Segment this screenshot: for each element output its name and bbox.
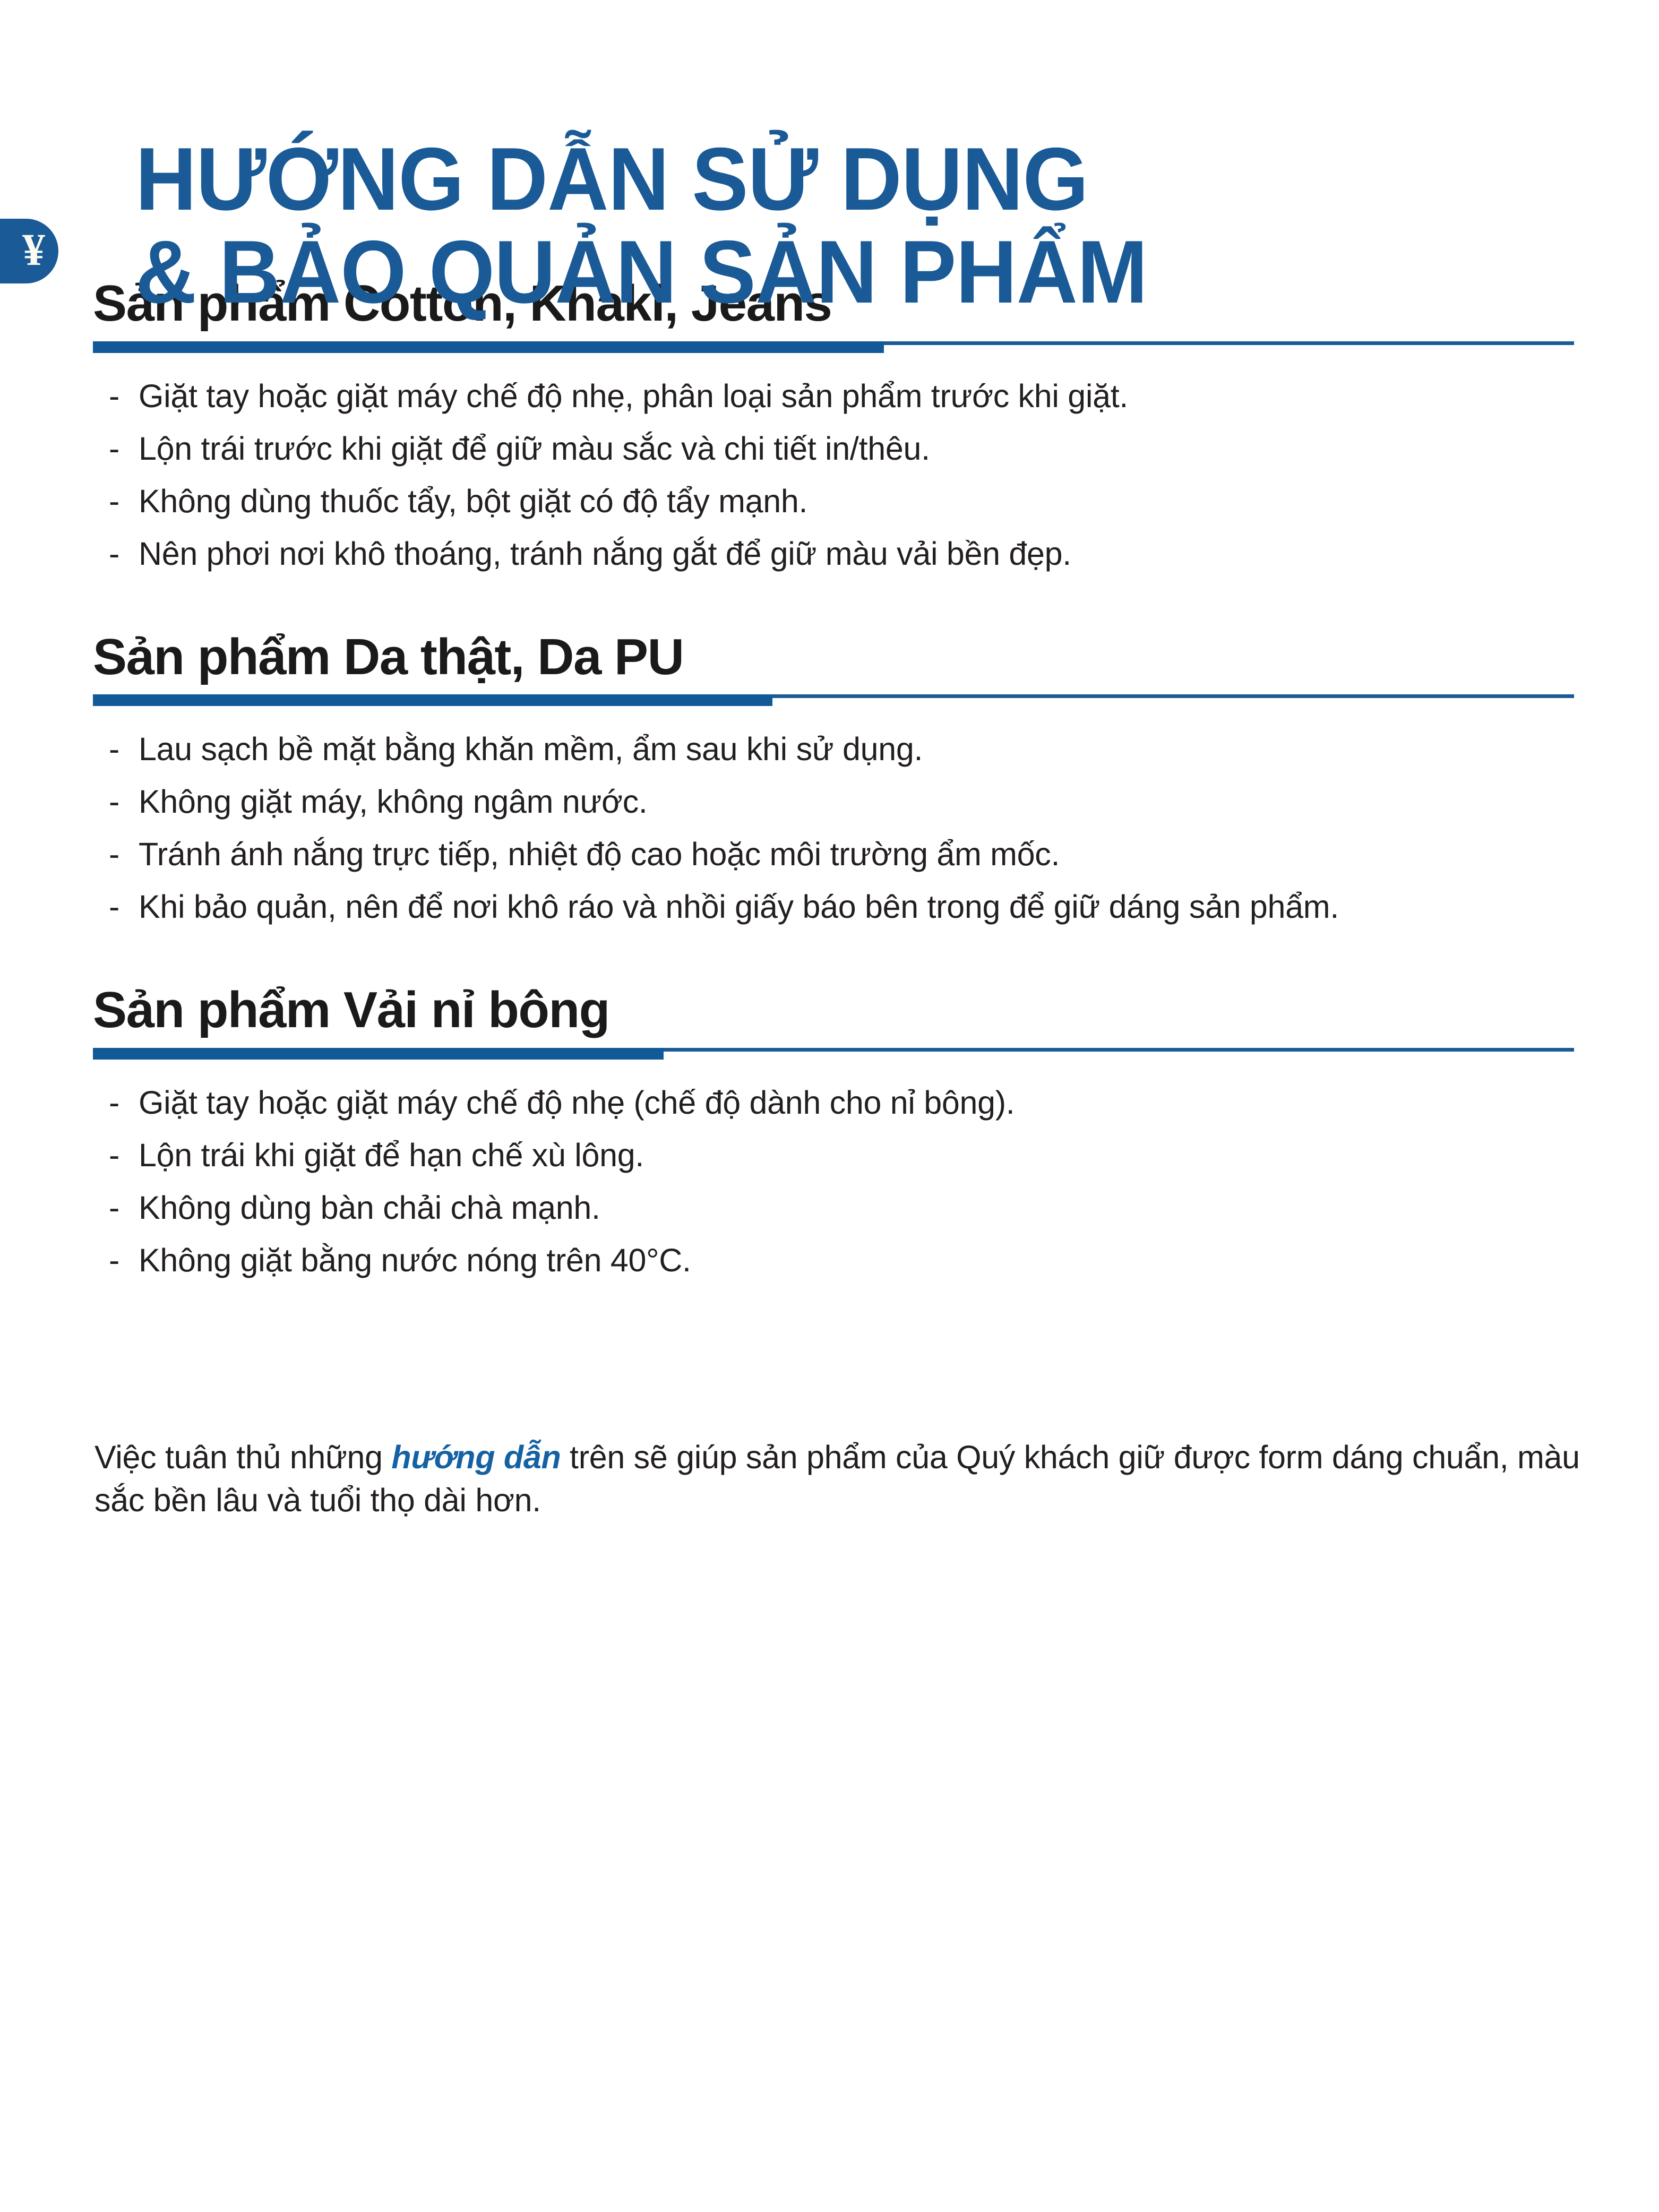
list-item-text: Khi bảo quản, nên để nơi khô ráo và nhồi… xyxy=(139,891,1590,923)
section-spacer xyxy=(93,590,1590,630)
list-item: - Giặt tay hoặc giặt máy chế độ nhẹ (chế… xyxy=(109,1087,1590,1119)
list-item: - Nên phơi nơi khô thoáng, tránh nắng gắ… xyxy=(109,538,1590,570)
section-spacer xyxy=(93,943,1590,983)
closing-note: Việc tuân thủ những hướng dẫn trên sẽ gi… xyxy=(0,1436,1659,1521)
list-item: - Khi bảo quản, nên để nơi khô ráo và nh… xyxy=(109,891,1590,923)
closing-note-part-1: Việc tuân thủ những xyxy=(94,1439,391,1475)
section-fleece-fabric: Sản phẩm Vải nỉ bông - Giặt tay hoặc giặ… xyxy=(93,983,1590,1277)
list-item-text: Lau sạch bề mặt bằng khăn mềm, ẩm sau kh… xyxy=(139,733,1590,765)
bullet-marker: - xyxy=(109,891,139,923)
bullet-marker: - xyxy=(109,538,139,570)
list-item: - Không dùng bàn chải chà mạnh. xyxy=(109,1192,1590,1224)
page-title-line-2: & BẢO QUẢN SẢN PHẨM xyxy=(135,226,1583,319)
list-item-text: Không giặt máy, không ngâm nước. xyxy=(139,786,1590,818)
list-item-text: Tránh ánh nắng trực tiếp, nhiệt độ cao h… xyxy=(139,838,1590,871)
bullet-marker: - xyxy=(109,1087,139,1119)
section-underline xyxy=(93,340,1590,351)
care-instructions-content: Sản phẩm Cotton, Khaki, Jeans - Giặt tay… xyxy=(0,276,1659,1277)
bullet-list: - Giặt tay hoặc giặt máy chế độ nhẹ (chế… xyxy=(93,1087,1590,1277)
section-leather-pu: Sản phẩm Da thật, Da PU - Lau sạch bề mặ… xyxy=(93,630,1590,983)
bullet-marker: - xyxy=(109,838,139,871)
list-item: - Lau sạch bề mặt bằng khăn mềm, ẩm sau … xyxy=(109,733,1590,765)
bullet-list: - Lau sạch bề mặt bằng khăn mềm, ẩm sau … xyxy=(93,733,1590,923)
bullet-marker: - xyxy=(109,380,139,412)
bullet-marker: - xyxy=(109,786,139,818)
list-item-text: Giặt tay hoặc giặt máy chế độ nhẹ, phân … xyxy=(139,380,1590,412)
list-item-text: Giặt tay hoặc giặt máy chế độ nhẹ (chế đ… xyxy=(139,1087,1590,1119)
list-item-text: Lộn trái trước khi giặt để giữ màu sắc v… xyxy=(139,433,1590,465)
closing-note-highlight: hướng dẫn xyxy=(391,1439,561,1475)
section-heading: Sản phẩm Da thật, Da PU xyxy=(93,630,1590,685)
yen-y-logo-icon: ¥ xyxy=(22,227,45,272)
page-title-line-1: HƯỚNG DẪN SỬ DỤNG xyxy=(135,133,1583,226)
section-cotton-khaki-jeans: Sản phẩm Cotton, Khaki, Jeans - Giặt tay… xyxy=(93,276,1590,630)
list-item-text: Không giặt bằng nước nóng trên 40°C. xyxy=(139,1244,1590,1277)
underline-thick-bar xyxy=(93,694,772,706)
list-item: - Tránh ánh nắng trực tiếp, nhiệt độ cao… xyxy=(109,838,1590,871)
bullet-marker: - xyxy=(109,433,139,465)
list-item-text: Không dùng bàn chải chà mạnh. xyxy=(139,1192,1590,1224)
bullet-marker: - xyxy=(109,1139,139,1172)
section-heading: Sản phẩm Vải nỉ bông xyxy=(93,983,1590,1038)
page-title: HƯỚNG DẪN SỬ DỤNG & BẢO QUẢN SẢN PHẨM xyxy=(0,133,1659,318)
bullet-marker: - xyxy=(109,485,139,518)
list-item: - Không giặt bằng nước nóng trên 40°C. xyxy=(109,1244,1590,1277)
bullet-marker: - xyxy=(109,1244,139,1277)
list-item: - Lộn trái trước khi giặt để giữ màu sắc… xyxy=(109,433,1590,465)
bullet-list: - Giặt tay hoặc giặt máy chế độ nhẹ, phâ… xyxy=(93,380,1590,570)
section-underline xyxy=(93,693,1590,704)
bullet-marker: - xyxy=(109,1192,139,1224)
underline-thick-bar xyxy=(93,341,884,353)
section-underline xyxy=(93,1046,1590,1058)
list-item: - Không giặt máy, không ngâm nước. xyxy=(109,786,1590,818)
underline-thick-bar xyxy=(93,1048,664,1060)
bullet-marker: - xyxy=(109,733,139,765)
page-header: ¥ HƯỚNG DẪN SỬ DỤNG & BẢO QUẢN SẢN PHẨM xyxy=(0,0,1659,276)
list-item-text: Nên phơi nơi khô thoáng, tránh nắng gắt … xyxy=(139,538,1590,570)
list-item: - Lộn trái khi giặt để hạn chế xù lông. xyxy=(109,1139,1590,1172)
list-item: - Không dùng thuốc tẩy, bột giặt có độ t… xyxy=(109,485,1590,518)
list-item-text: Lộn trái khi giặt để hạn chế xù lông. xyxy=(139,1139,1590,1172)
list-item-text: Không dùng thuốc tẩy, bột giặt có độ tẩy… xyxy=(139,485,1590,518)
list-item: - Giặt tay hoặc giặt máy chế độ nhẹ, phâ… xyxy=(109,380,1590,412)
